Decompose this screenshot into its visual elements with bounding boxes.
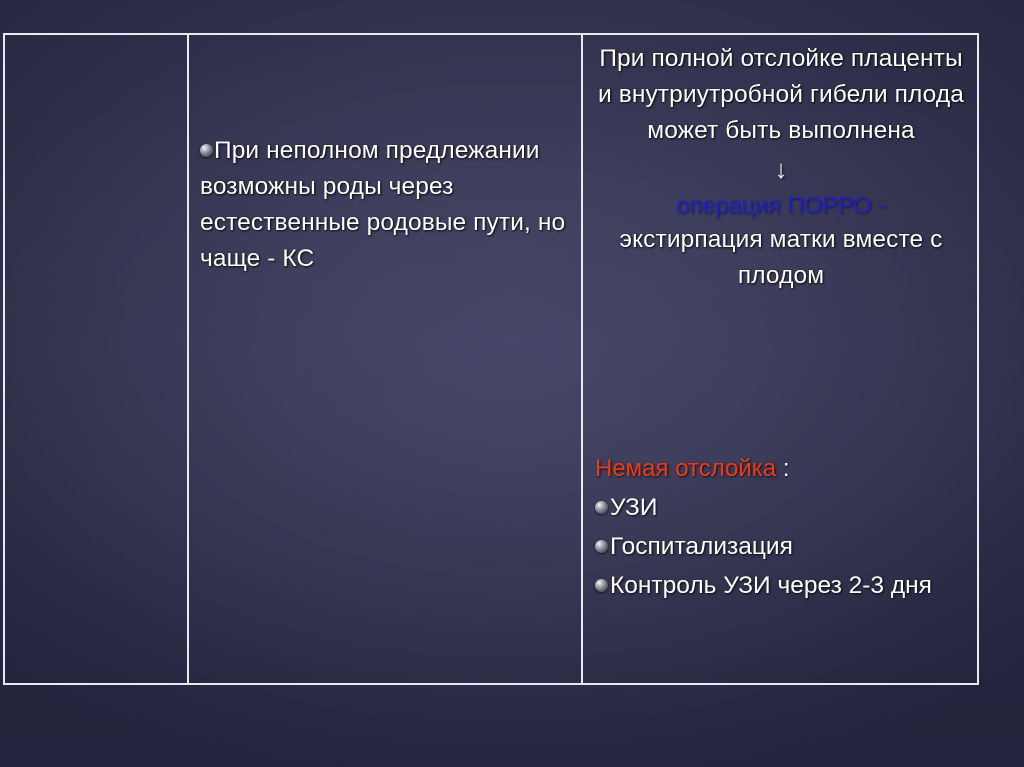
list-item-label: Госпитализация <box>610 533 793 560</box>
section-title-colon: : <box>783 455 790 482</box>
table-column-empty <box>5 35 189 683</box>
down-arrow-icon: ↓ <box>593 149 969 189</box>
table-column-right: При полной отслойке плаценты и внутриутр… <box>583 35 977 683</box>
section-title-text: Немая отслойка <box>595 455 776 482</box>
right-intro-text: При полной отслойке плаценты и внутриутр… <box>593 41 969 149</box>
list-item-label: Контроль УЗИ через 2-3 дня <box>610 572 932 599</box>
list-item-label: УЗИ <box>610 494 657 521</box>
sphere-bullet-icon <box>595 579 608 592</box>
section-title-row: Немая отслойка : <box>595 450 969 488</box>
list-item: Контроль УЗИ через 2-3 дня <box>595 566 969 605</box>
middle-paragraph-block: При неполном предлежании возможны роды ч… <box>200 133 573 277</box>
list-item: УЗИ <box>595 488 969 527</box>
sphere-bullet-icon <box>200 144 213 157</box>
slide-canvas: При неполном предлежании возможны роды ч… <box>0 0 1024 767</box>
sphere-bullet-icon <box>595 501 608 514</box>
sphere-bullet-icon <box>595 540 608 553</box>
right-bottom-block: Немая отслойка : УЗИ Госпитализация Конт… <box>595 450 969 605</box>
content-table: При неполном предлежании возможны роды ч… <box>3 33 979 685</box>
operation-description-text: экстирпация матки вместе с плодом <box>593 222 969 294</box>
table-column-middle: При неполном предлежании возможны роды ч… <box>189 35 583 683</box>
middle-paragraph-text: При неполном предлежании возможны роды ч… <box>200 137 565 272</box>
middle-paragraph: При неполном предлежании возможны роды ч… <box>200 133 573 277</box>
list-item: Госпитализация <box>595 527 969 566</box>
operation-highlight-text: операция ПОРРО - <box>593 189 969 222</box>
right-top-block: При полной отслойке плаценты и внутриутр… <box>593 41 969 294</box>
